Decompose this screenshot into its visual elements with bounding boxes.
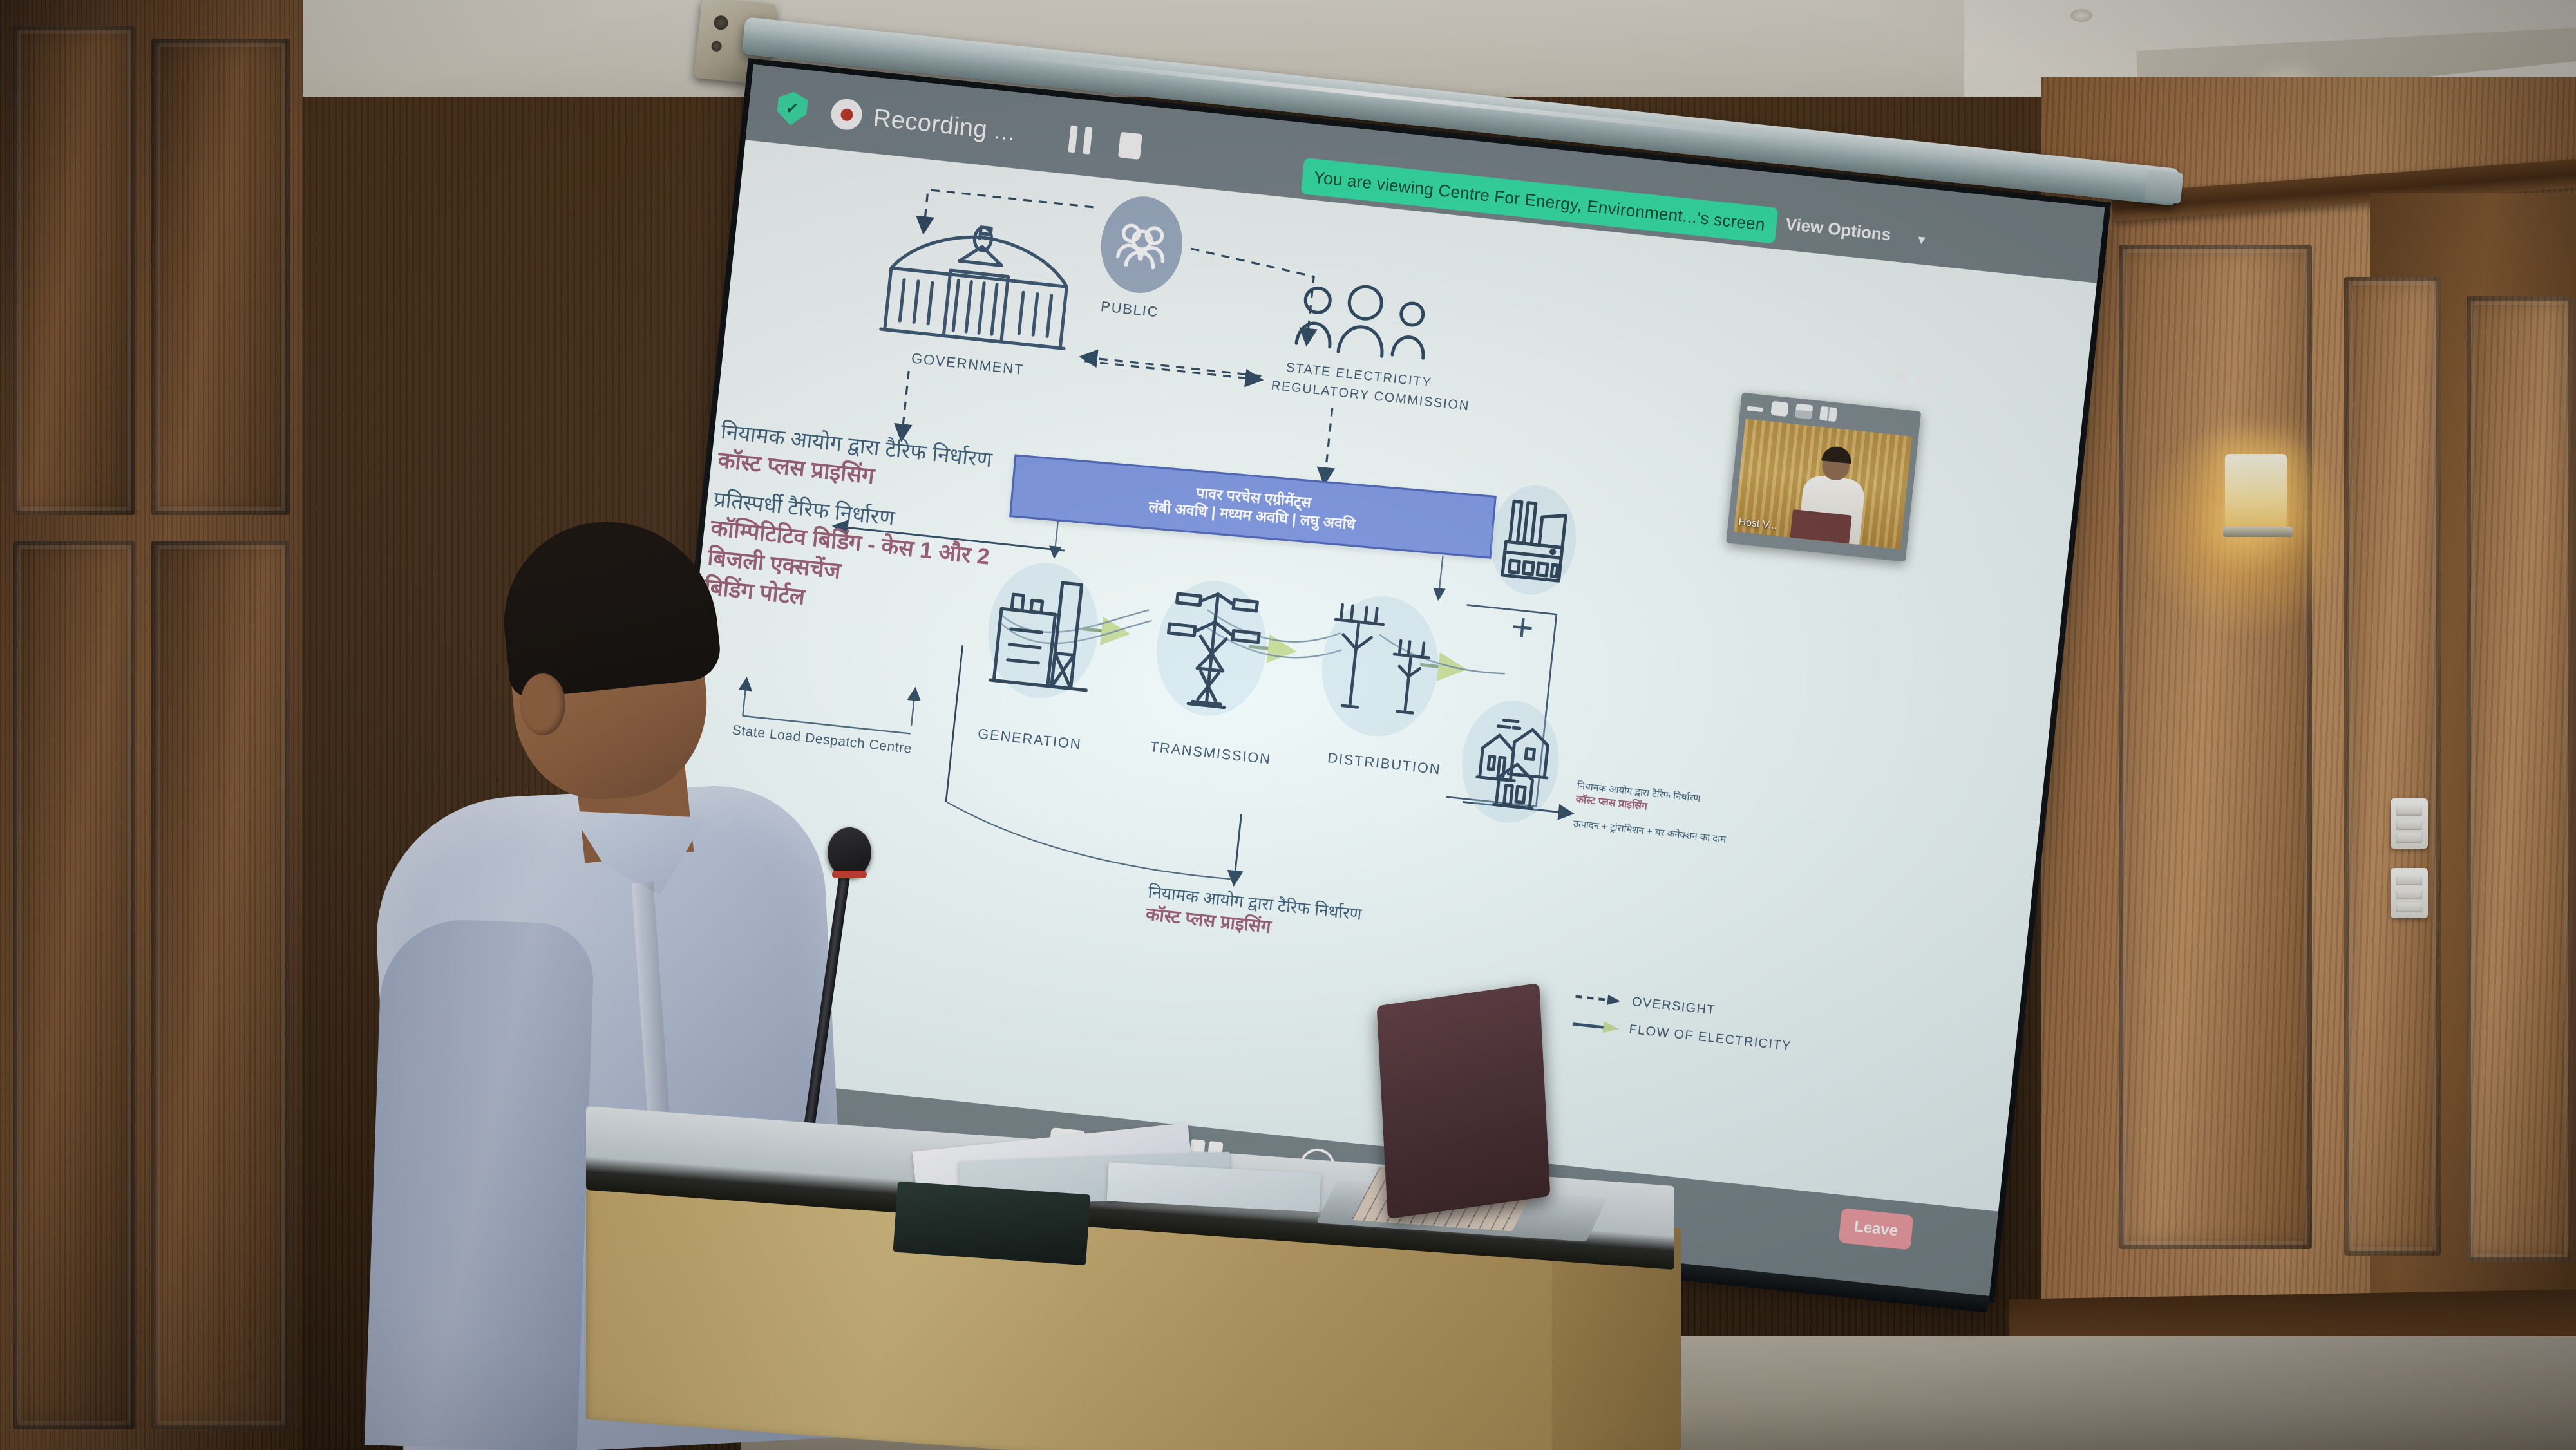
screen-roller-end-cap bbox=[2145, 169, 2184, 204]
black-case-on-podium[interactable] bbox=[893, 1182, 1091, 1266]
participant-video-tile[interactable]: Host V... bbox=[1734, 419, 1912, 549]
paper-sheet[interactable] bbox=[1107, 1162, 1321, 1212]
thumbnail-controls[interactable] bbox=[1747, 399, 1838, 422]
smoke-detector-icon bbox=[2070, 9, 2092, 22]
view-button-label: View bbox=[1912, 369, 1946, 389]
wood-panel bbox=[13, 541, 135, 1429]
gallery-view-icon[interactable] bbox=[1819, 406, 1837, 422]
wall-sconce-arm bbox=[2223, 527, 2293, 537]
recording-status-label: Recording ... bbox=[872, 104, 1017, 147]
presenter-hair bbox=[494, 511, 723, 699]
wood-panel bbox=[151, 541, 290, 1429]
view-options-button[interactable]: View Options ▾ bbox=[1785, 214, 1926, 249]
transmission-tower-icon bbox=[1155, 581, 1269, 717]
split-view-icon[interactable] bbox=[1795, 404, 1813, 420]
wood-panel bbox=[13, 26, 135, 515]
wood-panel bbox=[2467, 296, 2573, 1262]
participant-thumbnail-panel[interactable]: Host V... bbox=[1726, 393, 1921, 562]
factory-icon bbox=[1499, 495, 1572, 587]
pause-icon[interactable] bbox=[1068, 125, 1092, 154]
legend-solid-arrow-icon bbox=[1571, 1018, 1619, 1035]
wood-panel bbox=[2119, 245, 2312, 1249]
wall-sconce-lamp bbox=[2225, 454, 2287, 528]
light-switch-plate[interactable] bbox=[2391, 868, 2428, 918]
video-podium bbox=[1790, 509, 1852, 549]
laptop-screen[interactable] bbox=[1377, 983, 1551, 1219]
wood-panel bbox=[2344, 277, 2441, 1256]
microphone-indicator-light bbox=[832, 871, 867, 878]
chevron-down-icon: ▾ bbox=[1918, 231, 1926, 248]
shield-check-icon[interactable]: ✓ bbox=[775, 90, 808, 127]
maximize-icon[interactable] bbox=[1770, 401, 1788, 417]
view-grid-icon bbox=[1896, 370, 1909, 382]
light-switch-plate[interactable] bbox=[2391, 798, 2428, 849]
legend-dashed-arrow-icon bbox=[1574, 990, 1622, 1007]
view-options-label: View Options bbox=[1785, 214, 1891, 244]
record-dot-icon bbox=[829, 97, 864, 131]
presenter-ear bbox=[520, 673, 565, 735]
plus-sign: + bbox=[1509, 607, 1535, 648]
stop-icon[interactable] bbox=[1118, 132, 1142, 160]
screenshot-root: ✓ Recording ... You are viewing Centre F… bbox=[0, 0, 2576, 1450]
distribution-pole-icon bbox=[1321, 596, 1454, 731]
wood-panel bbox=[151, 39, 290, 515]
minimize-icon[interactable] bbox=[1747, 406, 1764, 412]
power-plant-icon bbox=[989, 571, 1097, 697]
legend-label-flow: FLOW OF ELECTRICITY bbox=[1628, 1022, 1792, 1055]
presenter-arm bbox=[365, 917, 595, 1450]
houses-icon bbox=[1470, 714, 1555, 813]
